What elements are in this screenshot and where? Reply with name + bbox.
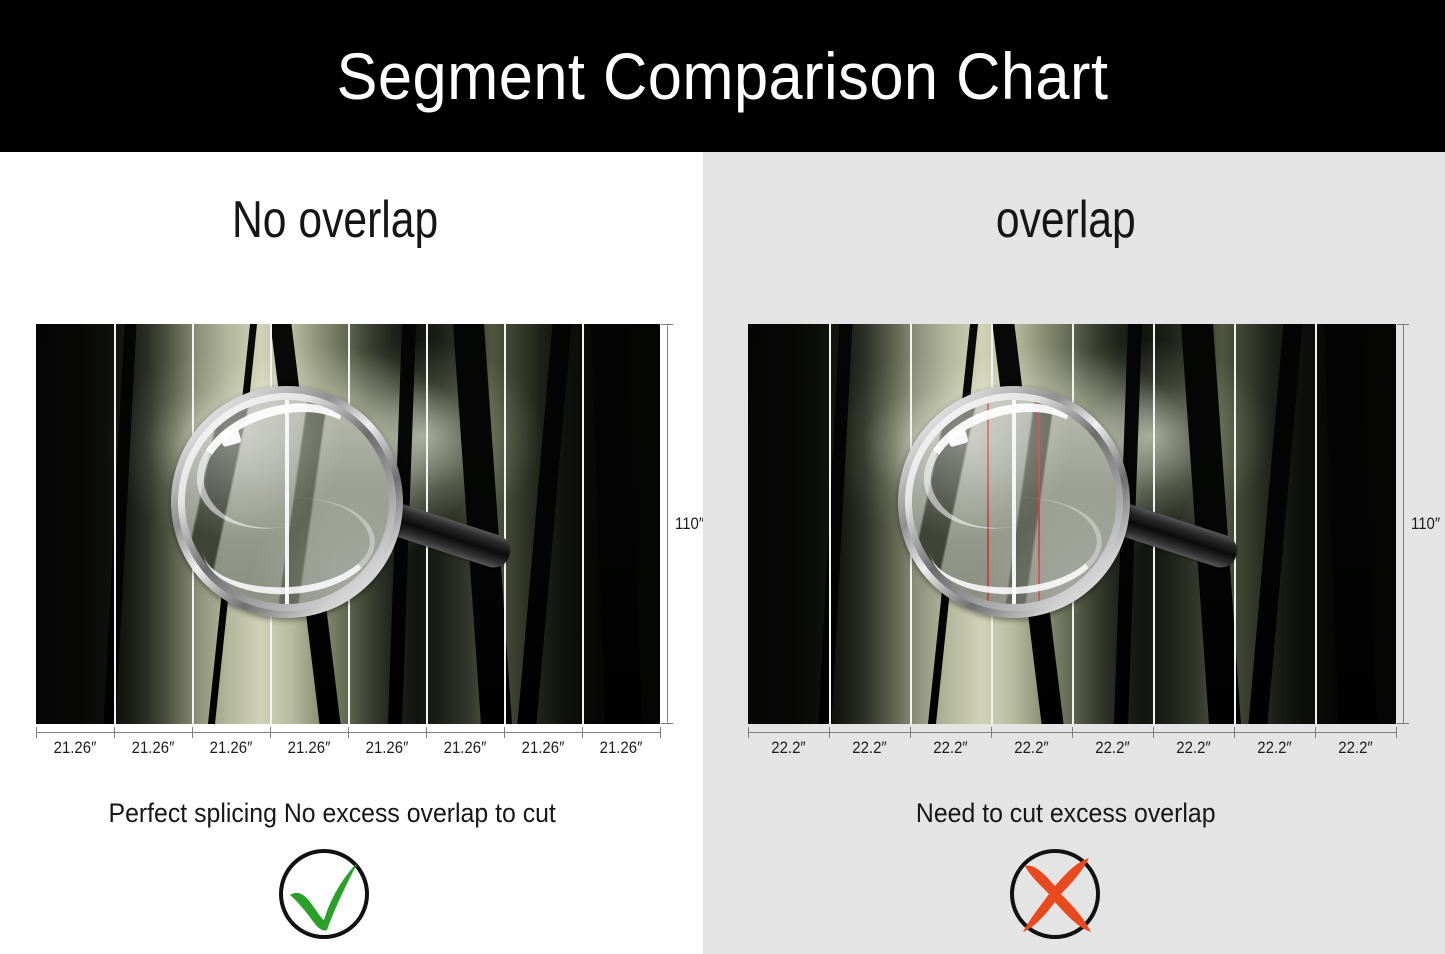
panel-right-heading: overlap (770, 190, 1378, 250)
forest-image-left (36, 324, 660, 724)
height-label-right: 110″ (1411, 514, 1440, 534)
forest-image-right (748, 324, 1396, 724)
height-ruler-right: 110″ (1400, 324, 1445, 724)
segment-label: 22.2″ (996, 738, 1067, 758)
segment-label: 22.2″ (1320, 738, 1391, 758)
panel-no-overlap: No overlap (0, 152, 703, 954)
segment-label: 21.26″ (431, 738, 500, 758)
segment-label: 21.26″ (119, 738, 188, 758)
segment-label: 22.2″ (1239, 738, 1310, 758)
segment-comparison-page: Segment Comparison Chart No overlap (0, 0, 1445, 954)
green-check-icon (272, 840, 376, 944)
segment-label: 21.26″ (353, 738, 422, 758)
caption-left: Perfect splicing No excess overlap to cu… (28, 798, 675, 829)
segment-ruler-left: 21.26″ 21.26″ 21.26″ 21.26″ 21.26″ 21.26… (36, 732, 660, 778)
title-banner: Segment Comparison Chart (0, 0, 1445, 152)
splice-lines-left (36, 324, 660, 724)
splice-lines-right (748, 324, 1396, 724)
panel-left-heading: No overlap (63, 190, 639, 250)
red-cross-icon (1003, 840, 1107, 944)
segment-label: 22.2″ (1077, 738, 1148, 758)
segment-label: 22.2″ (1158, 738, 1229, 758)
segment-label: 22.2″ (753, 738, 824, 758)
segment-label: 21.26″ (587, 738, 656, 758)
caption-right: Need to cut excess overlap (733, 798, 1416, 829)
segment-label: 22.2″ (915, 738, 986, 758)
page-title: Segment Comparison Chart (51, 0, 1395, 152)
height-label-left: 110″ (675, 514, 704, 534)
panel-overlap: overlap (703, 152, 1445, 954)
segment-label: 21.26″ (197, 738, 266, 758)
segment-label: 21.26″ (275, 738, 344, 758)
segment-ruler-right: 22.2″ 22.2″ 22.2″ 22.2″ 22.2″ 22.2″ 22.2… (748, 732, 1396, 778)
segment-label: 21.26″ (509, 738, 578, 758)
segment-label: 22.2″ (834, 738, 905, 758)
segment-label: 21.26″ (41, 738, 110, 758)
